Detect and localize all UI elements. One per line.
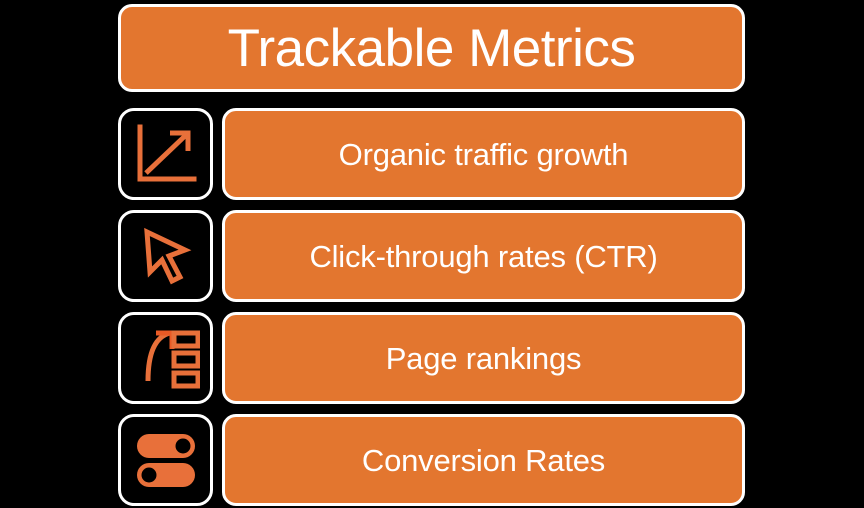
label-bar: Page rankings — [222, 312, 745, 404]
metric-row: Organic traffic growth — [0, 108, 864, 200]
page-title: Trackable Metrics — [228, 22, 636, 75]
metric-label: Page rankings — [386, 343, 582, 374]
trackable-metrics-infographic: Trackable Metrics Organic traffic growth — [0, 0, 864, 508]
growth-chart-icon — [134, 123, 198, 185]
metric-label: Organic traffic growth — [339, 139, 629, 170]
title-banner: Trackable Metrics — [118, 4, 745, 92]
metric-row: Page rankings — [0, 312, 864, 404]
label-bar: Click-through rates (CTR) — [222, 210, 745, 302]
icon-box-growth-chart — [118, 108, 213, 200]
mouse-cursor-icon — [135, 225, 197, 287]
label-bar: Conversion Rates — [222, 414, 745, 506]
metric-row: Conversion Rates — [0, 414, 864, 506]
icon-box-ranking-list — [118, 312, 213, 404]
metric-label: Click-through rates (CTR) — [309, 241, 657, 272]
metric-label: Conversion Rates — [362, 445, 605, 476]
ranking-list-icon — [132, 327, 200, 389]
metric-row: Click-through rates (CTR) — [0, 210, 864, 302]
icon-box-toggle-switches — [118, 414, 213, 506]
toggle-switches-icon — [133, 429, 199, 491]
label-bar: Organic traffic growth — [222, 108, 745, 200]
icon-box-mouse-cursor — [118, 210, 213, 302]
